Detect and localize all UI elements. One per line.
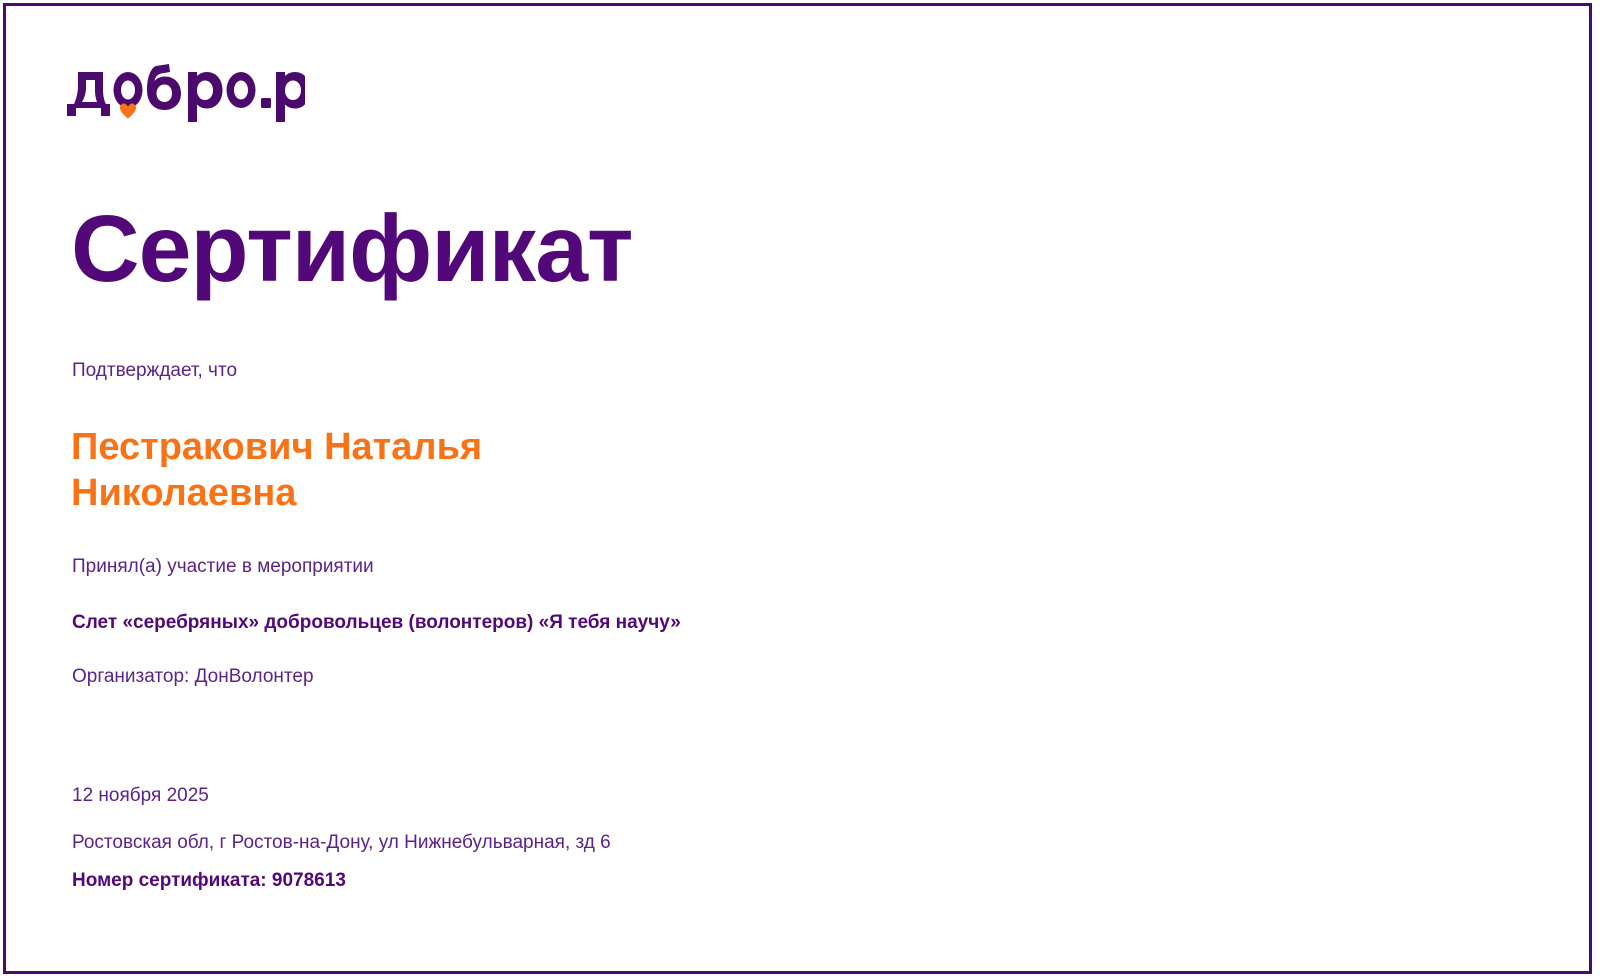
organizer-line: Организатор: ДонВолонтер: [72, 665, 1489, 690]
dobro-rf-logo: [65, 64, 305, 126]
recipient-name: Пестракович Наталья Николаевна: [71, 424, 711, 517]
logo-svg: [65, 64, 305, 126]
logo-wordmark: [67, 64, 305, 122]
certificate-content: Сертификат Подтверждает, что Пестракович…: [69, 202, 1489, 689]
issue-address: Ростовская обл, г Ростов-на-Дону, ул Ниж…: [72, 831, 1472, 856]
participation-label: Принял(а) участие в мероприятии: [72, 555, 1489, 580]
event-name: Слет «серебряных» добровольцев (волонтер…: [72, 610, 1489, 636]
issue-date: 12 ноября 2025: [72, 784, 1472, 809]
page-title: Сертификат: [71, 202, 1489, 297]
certificate-number: Номер сертификата: 9078613: [72, 869, 1472, 894]
certificate-footer: 12 ноября 2025 Ростовская обл, г Ростов-…: [72, 784, 1472, 894]
confirm-label: Подтверждает, что: [72, 359, 1489, 384]
certificate-page: Сертификат Подтверждает, что Пестракович…: [3, 3, 1592, 974]
